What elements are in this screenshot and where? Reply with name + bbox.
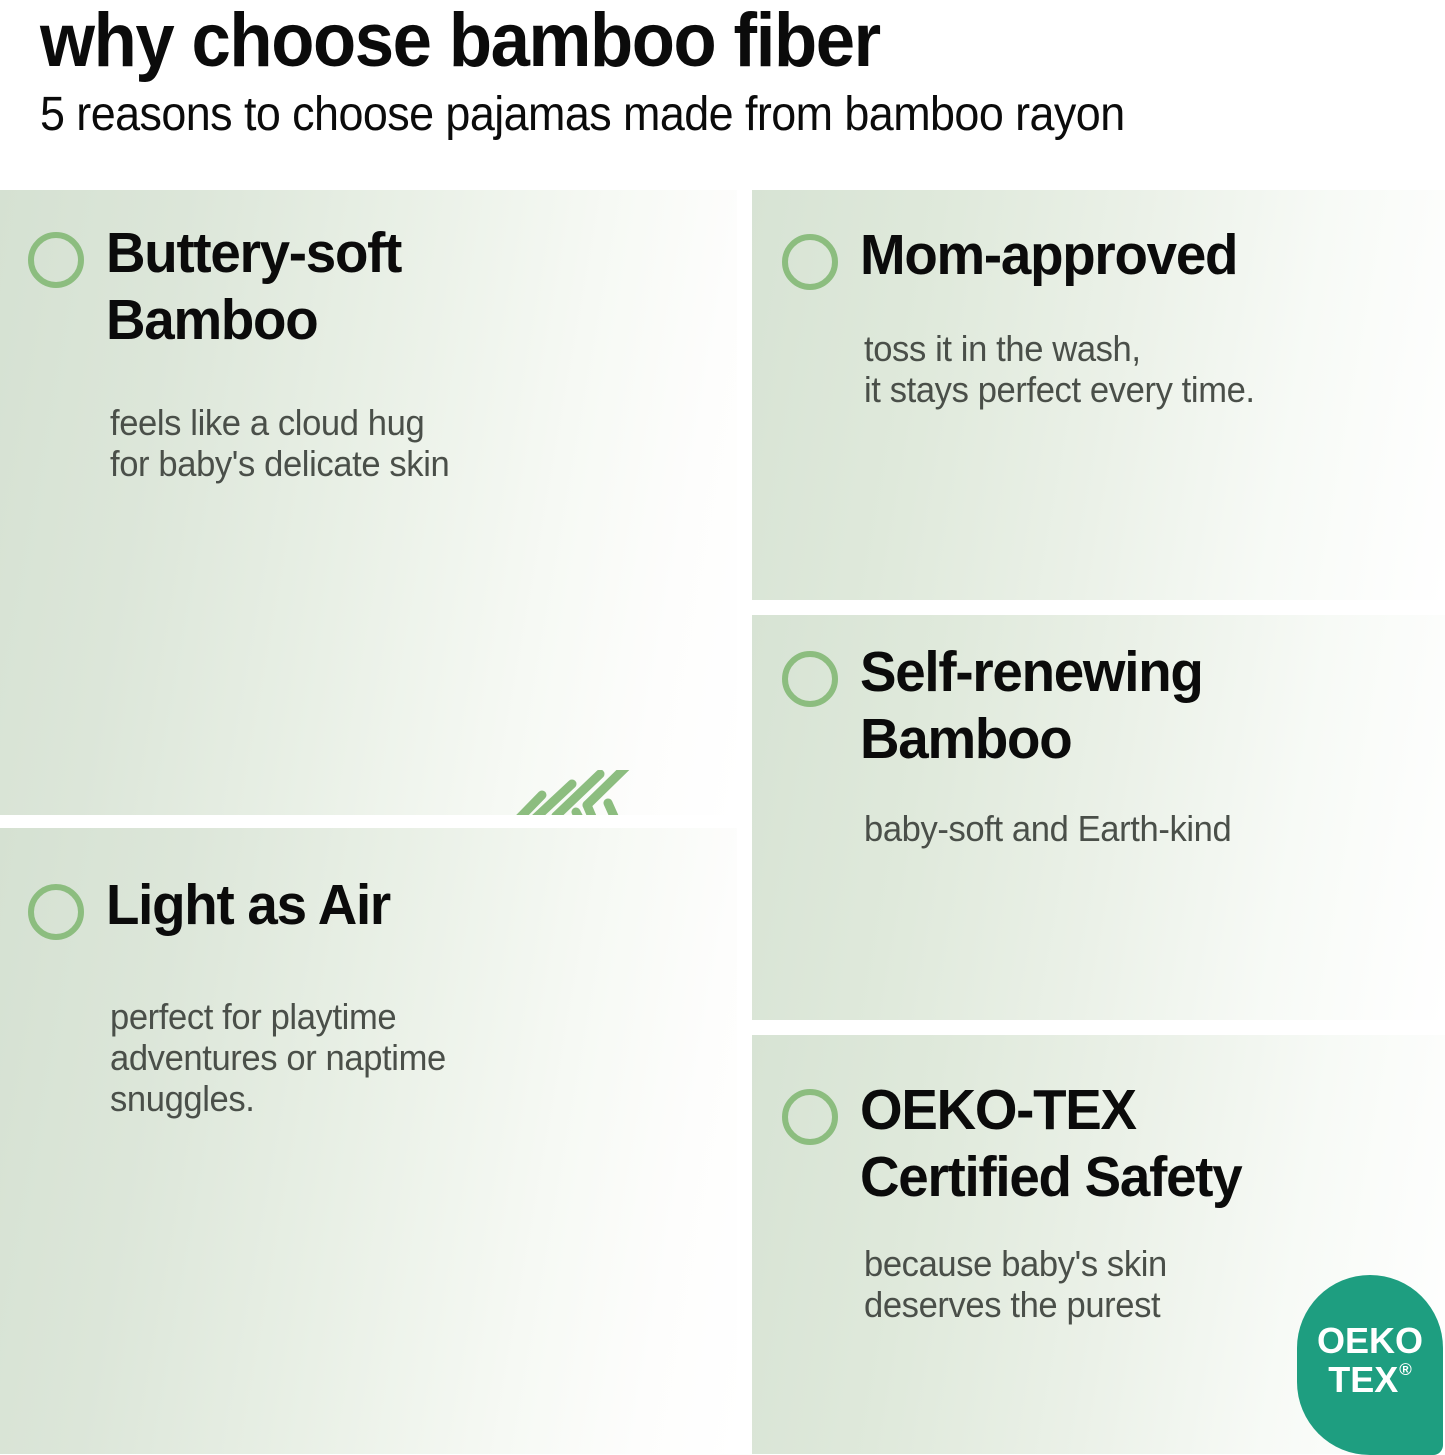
card-body: toss it in the wash, it stays perfect ev… (864, 328, 1255, 410)
circle-bullet-icon (782, 651, 838, 707)
card-body: perfect for playtime adventures or napti… (110, 996, 446, 1119)
card-header: OEKO-TEX Certified Safety (782, 1077, 1257, 1211)
card-body: baby-soft and Earth-kind (864, 808, 1231, 849)
registered-mark-icon: ® (1399, 1360, 1412, 1380)
circle-bullet-icon (782, 1089, 838, 1145)
page-header: why choose bamboo fiber 5 reasons to cho… (0, 0, 1445, 190)
card-light-as-air: Light as Air perfect for playtime advent… (0, 828, 737, 1454)
benefits-grid: Buttery-soft Bamboo feels like a cloud h… (0, 190, 1445, 1454)
card-heading: Mom-approved (860, 222, 1237, 289)
card-mom-approved: Mom-approved toss it in the wash, it sta… (752, 190, 1445, 600)
badge-tex-text: TEX (1328, 1360, 1398, 1400)
oeko-tex-badge: OEKO TEX ® (1297, 1275, 1443, 1455)
page-subtitle: 5 reasons to choose pajamas made from ba… (40, 84, 1354, 146)
card-self-renewing-bamboo: Self-renewing Bamboo baby-soft and Earth… (752, 615, 1445, 1020)
card-header: Mom-approved (782, 222, 1253, 290)
card-body: because baby's skin deserves the purest (864, 1243, 1167, 1325)
card-header: Self-renewing Bamboo (782, 639, 1217, 773)
circle-bullet-icon (782, 234, 838, 290)
badge-line-tex: TEX ® (1328, 1360, 1412, 1400)
page-title: why choose bamboo fiber (40, 2, 1347, 80)
card-heading: Self-renewing Bamboo (860, 639, 1203, 773)
circle-bullet-icon (28, 884, 84, 940)
circle-bullet-icon (28, 232, 84, 288)
card-buttery-soft-bamboo: Buttery-soft Bamboo feels like a cloud h… (0, 190, 737, 815)
card-body: feels like a cloud hug for baby's delica… (110, 402, 449, 484)
card-header: Buttery-soft Bamboo (28, 220, 413, 354)
card-heading: OEKO-TEX Certified Safety (860, 1077, 1241, 1211)
hand-icon (470, 770, 700, 815)
card-heading: Light as Air (106, 872, 390, 939)
card-heading: Buttery-soft Bamboo (106, 220, 401, 354)
badge-line-oeko: OEKO (1317, 1322, 1423, 1360)
card-header: Light as Air (28, 872, 402, 940)
